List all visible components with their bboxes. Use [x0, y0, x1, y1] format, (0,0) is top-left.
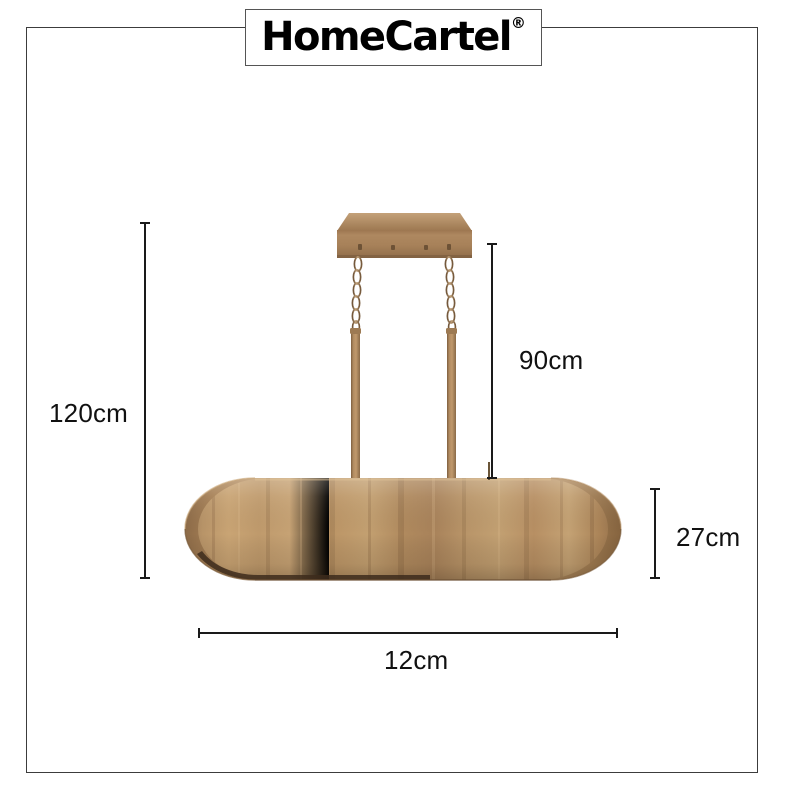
dimension-line-drop-height: [491, 243, 493, 479]
dimension-label-shade-height: 27cm: [676, 522, 740, 553]
brand-name: HomeCartel: [261, 14, 511, 60]
registered-trademark-mark: ®: [511, 14, 526, 32]
product-dimension-diagram: 120cm 90cm 27cm 12cm HomeCartel®: [0, 0, 800, 800]
dimension-line-overall-height: [144, 222, 146, 579]
dimension-label-shade-width: 12cm: [384, 645, 448, 676]
dimension-label-overall-height: 120cm: [49, 398, 128, 429]
dimension-line-shade-width: [198, 632, 618, 634]
brand-logo: HomeCartel®: [245, 9, 542, 66]
dimension-label-drop-height: 90cm: [519, 345, 583, 376]
dimension-line-shade-height: [654, 488, 656, 579]
brand-name-text: HomeCartel®: [261, 17, 526, 57]
